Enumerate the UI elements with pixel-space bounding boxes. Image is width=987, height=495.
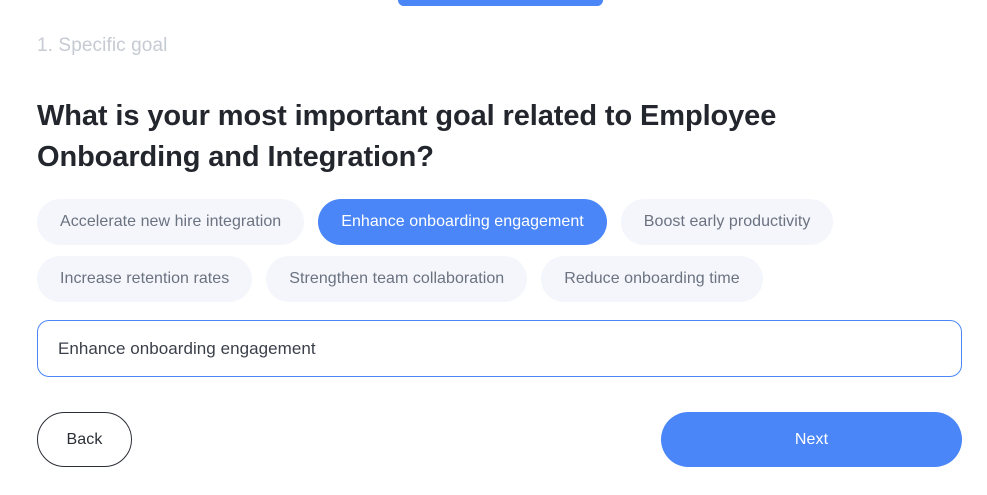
next-button[interactable]: Next	[661, 412, 962, 467]
suggestion-chip[interactable]: Enhance onboarding engagement	[318, 199, 607, 245]
suggestion-chip[interactable]: Accelerate new hire integration	[37, 199, 304, 245]
suggestion-chip[interactable]: Boost early productivity	[621, 199, 834, 245]
back-button[interactable]: Back	[37, 412, 132, 467]
suggestion-chip-list: Accelerate new hire integrationEnhance o…	[37, 199, 962, 302]
step-content: 1. Specific goal What is your most impor…	[37, 0, 962, 495]
suggestion-chip[interactable]: Increase retention rates	[37, 256, 252, 302]
suggestion-chip[interactable]: Reduce onboarding time	[541, 256, 762, 302]
suggestion-chip[interactable]: Strengthen team collaboration	[266, 256, 527, 302]
goal-step-screen: 1. Specific goal What is your most impor…	[0, 0, 987, 495]
step-navigation: Back Next	[37, 412, 962, 468]
question-heading: What is your most important goal related…	[37, 96, 837, 178]
step-label: 1. Specific goal	[37, 33, 167, 59]
goal-answer-input[interactable]	[37, 320, 962, 377]
